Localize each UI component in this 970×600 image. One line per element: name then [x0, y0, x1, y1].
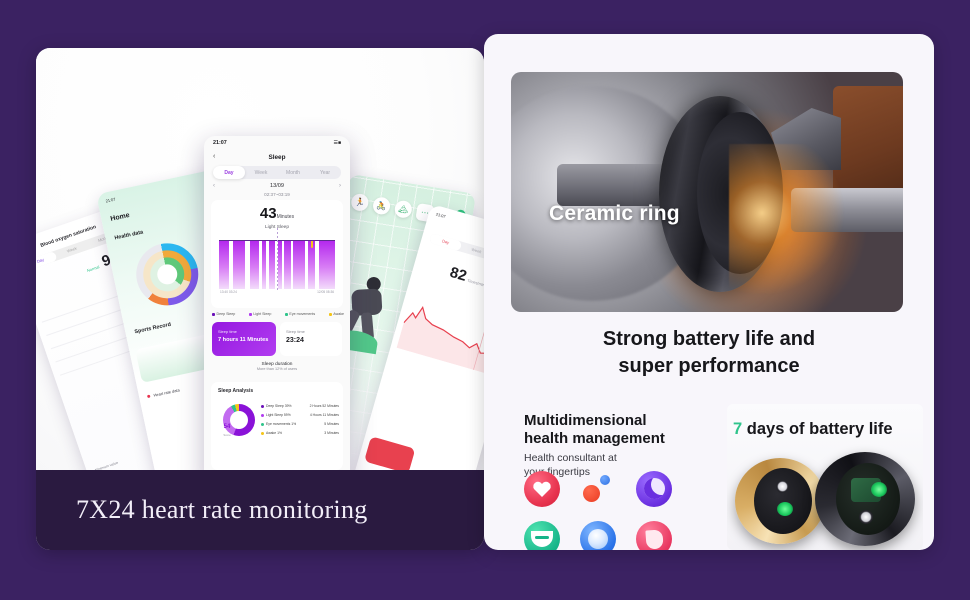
sleep-date-nav[interactable]: ‹ 13/09 › [213, 183, 341, 189]
battery-days-number: 7 [733, 420, 742, 438]
sleep-duration-sub: More than 12% of users [204, 367, 350, 371]
heart-rate-icon [524, 471, 560, 507]
hr-measure-button[interactable] [364, 436, 415, 470]
hr-status-time: 21:07 [435, 212, 446, 220]
hr-tab-day[interactable]: Day [429, 233, 463, 251]
battery-days-text: days of battery life [742, 420, 892, 438]
battery-life-feature: 7 days of battery life [727, 404, 923, 550]
sleep-axis-start: 13:40 03:24 [220, 290, 237, 294]
home-status-time: 21:07 [105, 197, 116, 204]
health-feature-sub-1: Health consultant at [524, 452, 704, 466]
sleep-status-time: 21:07 [213, 140, 227, 146]
sleep-legend: Deep Sleep Light Sleep Eye movements Awa… [212, 312, 344, 316]
sleep-analysis-title: Sleep Analysis [218, 388, 253, 394]
phone-sleep: 21:07 ☰■ ‹ Sleep Day Week Month Year ‹ 1… [204, 136, 350, 470]
sleep-range-tabs[interactable]: Day Week Month Year [213, 166, 341, 179]
sleep-tab-week[interactable]: Week [245, 166, 277, 179]
analysis-row: Light Sleep 59% 4 Hours 11 Minutes [261, 413, 339, 417]
bedtime-value: 23:24 [286, 337, 304, 344]
left-caption-bar: 7X24 heart rate monitoring [36, 470, 484, 550]
hr-value-block: 82Times/minute [412, 254, 484, 303]
spo2-minimum: Minimum value 92.0% [94, 461, 121, 470]
sleep-score-text: 54 Score [211, 415, 243, 437]
prev-day-icon[interactable]: ‹ [213, 183, 215, 189]
health-feature-title-2: health management [524, 430, 704, 448]
sleep-tab-day[interactable]: Day [213, 166, 245, 179]
bedtime-label: Sleep time [286, 329, 305, 334]
outdoor-running-icon[interactable]: 🏃 [350, 193, 369, 212]
poster-stage: 21:07 Blood oxygen saturation Day Week M… [0, 0, 970, 600]
hr-tab-week[interactable]: Week [460, 242, 484, 260]
bedtime-tile: Sleep time 23:24 [280, 322, 342, 356]
ceramic-ring-label: Ceramic ring [549, 202, 680, 226]
sleep-time-range: 02:37~03:19 [204, 192, 350, 197]
sleep-analysis-card: Sleep Analysis 54 Score Deep Sleep 39% 2… [211, 382, 343, 470]
home-title: Home [110, 212, 130, 223]
body-temperature-icon [636, 521, 672, 550]
analysis-row: Eye movements 1% 5 Minutes [261, 422, 339, 426]
legend-light-sleep: Light Sleep [249, 312, 271, 316]
sleep-tab-year[interactable]: Year [309, 166, 341, 179]
gold-smart-ring [735, 458, 825, 544]
home-health-data-label: Health data [114, 230, 144, 242]
health-metric-icons [524, 471, 692, 550]
sleep-status-icons: ☰■ [333, 140, 341, 146]
hiking-icon[interactable]: 🏔 [394, 200, 413, 219]
next-day-icon[interactable]: › [339, 183, 341, 189]
sleep-duration-block: 43Minutes [211, 205, 343, 223]
legend-deep-sleep: Deep Sleep [212, 312, 235, 316]
blood-cells-icon [580, 471, 616, 507]
spo2-status-label: Normal [86, 264, 100, 273]
hr-resting-card [418, 452, 471, 470]
analysis-row: Awake 1% 3 Minutes [261, 431, 339, 435]
battery-life-title: 7 days of battery life [733, 420, 893, 439]
sleep-moon-icon [636, 471, 672, 507]
right-headline: Strong battery life and super performanc… [484, 326, 934, 380]
bike-riding-icon[interactable]: 🚴 [372, 196, 391, 215]
sleep-duration-value: 43 [260, 205, 277, 222]
sleep-analysis-rows: Deep Sleep 39% 2 Hours 52 Minutes Light … [261, 404, 339, 440]
analysis-row: Deep Sleep 39% 2 Hours 52 Minutes [261, 404, 339, 408]
left-panel: 21:07 Blood oxygen saturation Day Week M… [36, 48, 484, 550]
home-heart-rate-item: Heart rate data [147, 387, 180, 399]
hr-unit: Times/minute [467, 278, 484, 289]
sleep-time-value: 7 hours 11 Minutes [218, 337, 268, 343]
sleep-title: Sleep [204, 154, 350, 161]
spo2-tab-week[interactable]: Week [55, 240, 90, 260]
left-caption-text: 7X24 heart rate monitoring [36, 495, 368, 525]
sleep-axis-end: 12/05 08:36 [317, 290, 334, 294]
spo2-tab-day[interactable]: Day [36, 251, 58, 271]
blood-pressure-icon [524, 521, 560, 550]
sleep-duration-summary: Sleep duration More than 12% of users [204, 362, 350, 371]
sleep-date: 13/09 [270, 183, 284, 189]
ceramic-ring-photo: Ceramic ring [511, 72, 903, 312]
app-screens-photo: 21:07 Blood oxygen saturation Day Week M… [36, 48, 484, 470]
activity-rings-icon [130, 238, 204, 312]
legend-awake: Awake [329, 312, 344, 316]
hr-line-chart [397, 294, 484, 376]
health-feature-title-1: Multidimensional [524, 412, 704, 430]
home-sports-record-label: Sports Record [134, 322, 172, 336]
health-management-feature: Multidimensional health management Healt… [524, 412, 704, 480]
black-smart-ring [815, 452, 915, 546]
headline-line-1: Strong battery life and [484, 326, 934, 353]
headline-line-2: super performance [484, 353, 934, 380]
sleep-time-tile: Sleep time 7 hours 11 Minutes [212, 322, 276, 356]
sparks-glow [729, 144, 879, 294]
sleep-tab-month[interactable]: Month [277, 166, 309, 179]
sleep-duration-unit: Minutes [277, 214, 295, 220]
sleep-time-label: Sleep time [218, 329, 237, 334]
sleep-chart-card: 43Minutes Light Sleep [211, 200, 343, 308]
legend-eye-movements: Eye movements [285, 312, 315, 316]
blood-oxygen-icon [580, 521, 616, 550]
right-panel: Ceramic ring Strong battery life and sup… [484, 34, 934, 550]
smart-rings-photo [729, 450, 921, 548]
sleep-chart-cursor [277, 228, 278, 290]
